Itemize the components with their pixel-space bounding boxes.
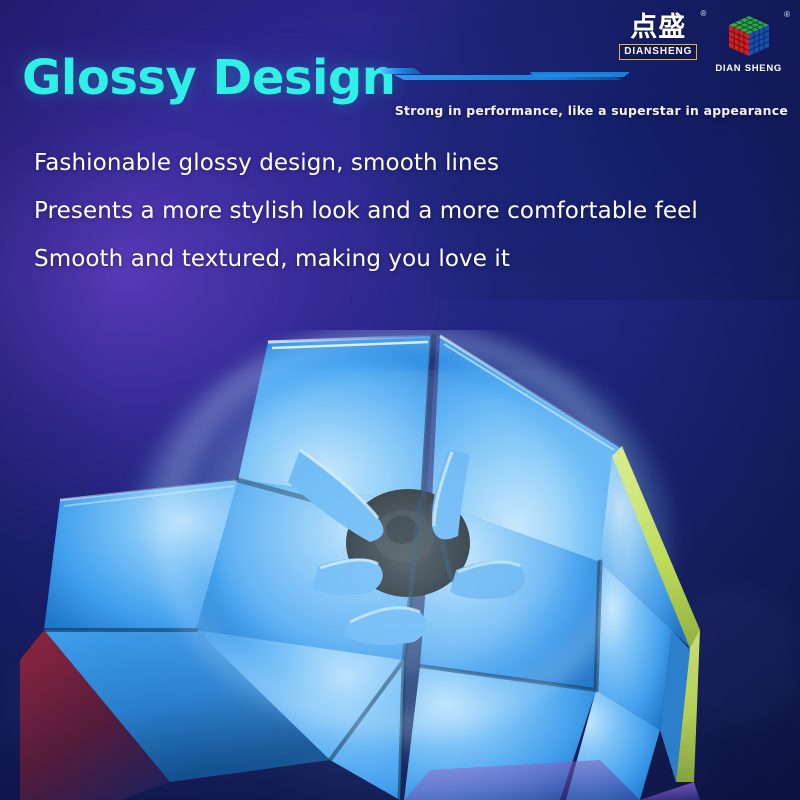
page-title: Glossy Design — [22, 52, 395, 104]
product-image — [0, 330, 800, 800]
speed-cube-illustration — [0, 330, 800, 800]
brand-wordmark: 点盛 ® DIANSHENG — [619, 14, 697, 60]
ad-banner: 点盛 ® DIANSHENG — [0, 0, 800, 800]
list-item: Presents a more stylish look and a more … — [34, 198, 734, 224]
list-item: Fashionable glossy design, smooth lines — [34, 150, 734, 176]
list-item: Smooth and textured, making you love it — [34, 246, 734, 272]
tech-line-decoration — [378, 62, 630, 88]
registered-trademark-icon: ® — [700, 10, 706, 18]
brand-cube-label: DIAN SHENG — [715, 64, 782, 74]
registered-trademark-icon-2: ® — [784, 11, 790, 19]
feature-list: Fashionable glossy design, smooth lines … — [34, 150, 734, 294]
brand-latin-name: DIANSHENG — [619, 44, 697, 60]
rubiks-cube-icon — [726, 14, 772, 60]
brand-chinese-name: 点盛 — [630, 14, 686, 41]
tagline: Strong in performance, like a superstar … — [395, 103, 788, 119]
brand-cube-logo: ® DIAN SHENG — [715, 14, 782, 74]
brand-logo-group: 点盛 ® DIANSHENG — [619, 14, 782, 74]
